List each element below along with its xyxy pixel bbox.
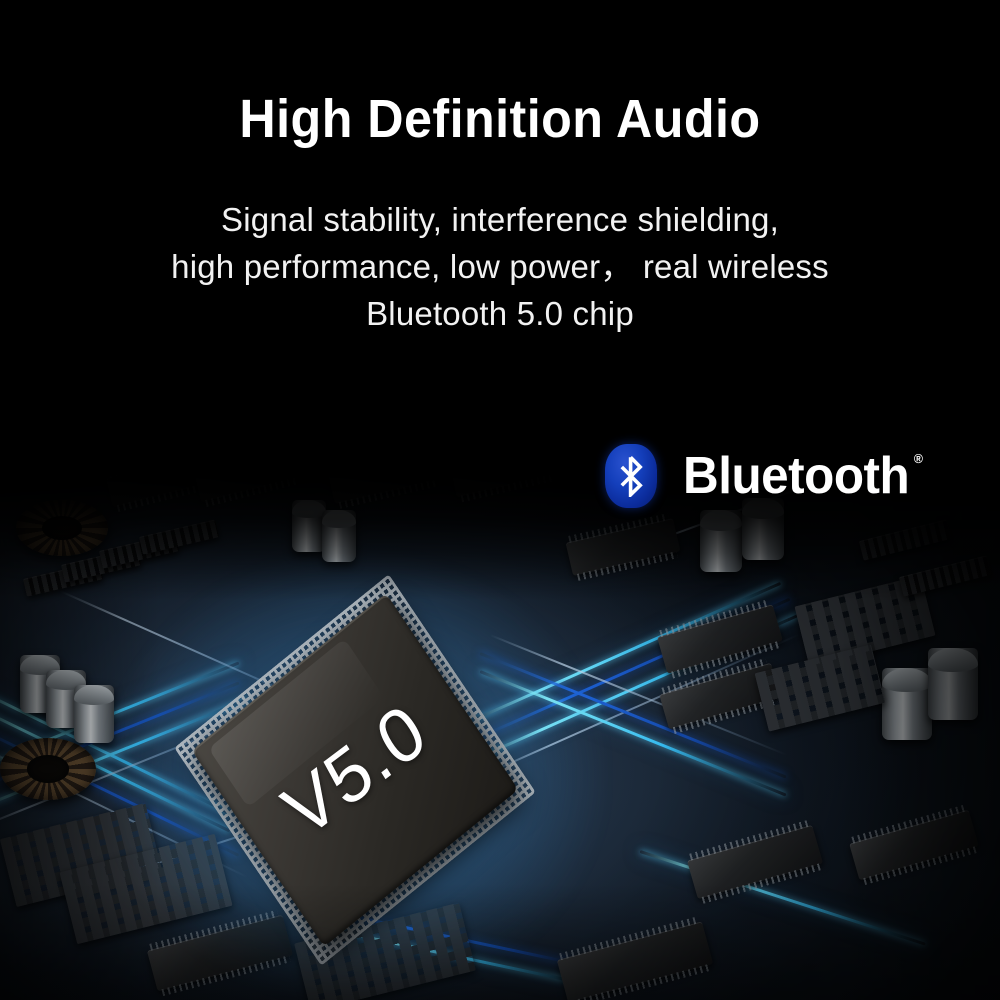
toroidal-inductor — [16, 500, 108, 556]
subtitle-line-1: Signal stability, interference shielding… — [0, 196, 1000, 243]
bluetooth-rune-icon — [618, 455, 644, 497]
page-title: High Definition Audio — [35, 88, 965, 150]
capacitor — [928, 648, 978, 720]
capacitor — [882, 668, 932, 740]
bluetooth-logo: Bluetooth ® — [605, 444, 921, 508]
capacitor — [292, 500, 326, 552]
bluetooth-wordmark-text: Bluetooth — [683, 447, 909, 505]
bluetooth-chip: V5.0 — [196, 622, 516, 922]
subtitle-block: Signal stability, interference shielding… — [0, 196, 1000, 337]
toroidal-inductor — [0, 738, 96, 800]
subtitle-line-3: Bluetooth 5.0 chip — [0, 290, 1000, 337]
trademark-symbol: ® — [914, 452, 923, 465]
capacitor — [700, 510, 742, 572]
bluetooth-wordmark: Bluetooth ® — [683, 450, 909, 502]
chip-version-label: V5.0 — [233, 659, 477, 882]
product-feature-banner: V5.0 High Definition Audio Signal stabil… — [0, 0, 1000, 1000]
circuit-board-photo: V5.0 — [0, 470, 1000, 1000]
subtitle-line-2: high performance, low power， real wirele… — [0, 243, 1000, 290]
bluetooth-badge — [605, 444, 657, 508]
